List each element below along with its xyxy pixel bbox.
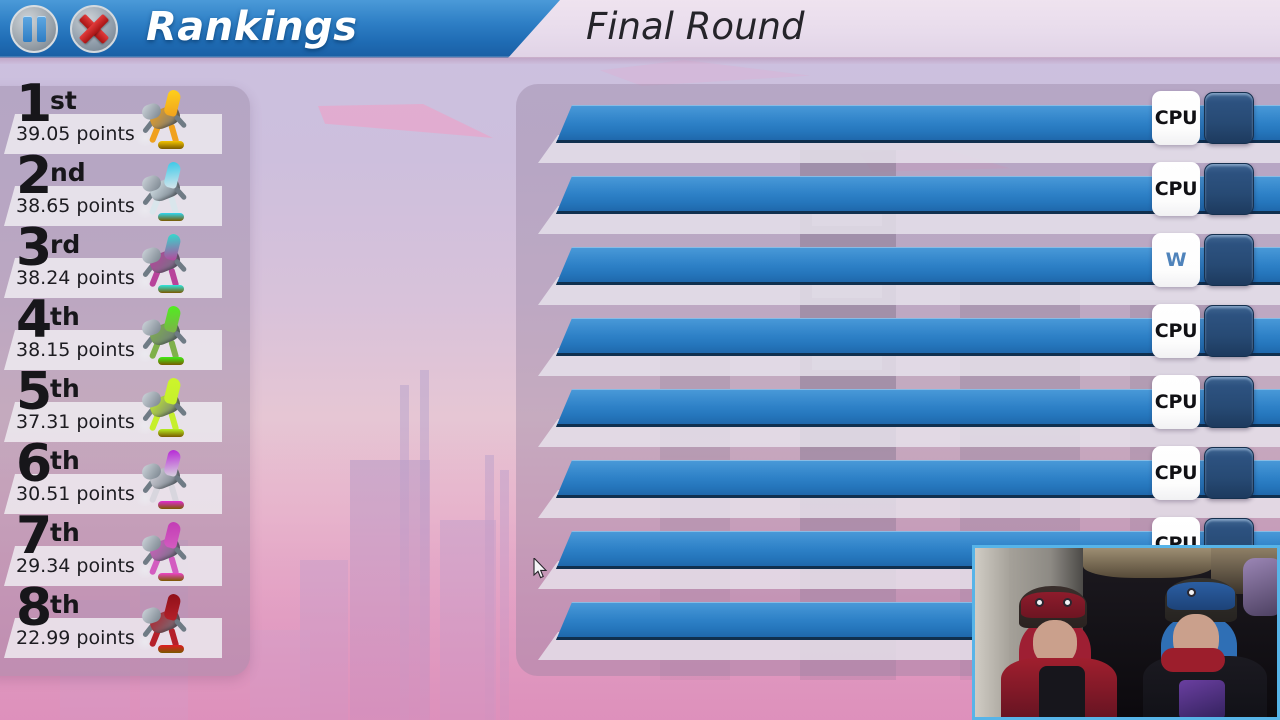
rank-points: 37.31 points <box>16 411 135 433</box>
player-marker-cube[interactable] <box>1204 234 1254 286</box>
rankings-panel: 1st39.05 points2nd38.65 points3rd38.24 p… <box>0 86 250 676</box>
character-sprite <box>136 590 206 658</box>
sprite-shoe <box>158 213 184 221</box>
player-bar-row[interactable]: CPU <box>516 97 1280 169</box>
rank-suffix: nd <box>50 160 86 185</box>
player-bar-row[interactable]: W <box>516 239 1280 311</box>
hat-eye-motif <box>1063 598 1072 607</box>
ranking-entry: 8th22.99 points <box>0 588 250 660</box>
sprite-shoe <box>158 573 184 581</box>
shirt-print <box>1039 666 1085 720</box>
hat-eye-motif <box>1035 598 1044 607</box>
player-marker-cube[interactable] <box>1204 163 1254 215</box>
player-bar-row[interactable]: CPU <box>516 381 1280 453</box>
player-bar-row[interactable]: CPU <box>516 452 1280 524</box>
player-bar-row[interactable]: CPU <box>516 168 1280 240</box>
webcam-purple-decor <box>1243 558 1280 616</box>
beanie-band <box>1167 582 1235 610</box>
sprite-shoe <box>158 285 184 293</box>
player-name-label: CPU <box>1155 107 1197 129</box>
player-marker-cube[interactable] <box>1204 447 1254 499</box>
rank-points: 38.15 points <box>16 339 135 361</box>
player-name-box[interactable]: CPU <box>1152 162 1200 216</box>
character-sprite <box>136 230 206 298</box>
rank-points: 30.51 points <box>16 483 135 505</box>
player-marker-cube[interactable] <box>1204 376 1254 428</box>
webcam-overlay[interactable] <box>972 545 1280 720</box>
hat-eye-motif <box>1187 588 1196 597</box>
player-marker-cube[interactable] <box>1204 305 1254 357</box>
player-name-label: CPU <box>1155 178 1197 200</box>
page-title: Rankings <box>146 0 358 57</box>
player-marker-cube[interactable] <box>1204 92 1254 144</box>
player-name-box[interactable]: CPU <box>1152 91 1200 145</box>
shirt-print <box>1179 680 1225 720</box>
player-name-label: CPU <box>1155 391 1197 413</box>
player-name-label: CPU <box>1155 462 1197 484</box>
rank-points: 38.24 points <box>16 267 135 289</box>
character-sprite <box>136 374 206 442</box>
rank-points: 29.34 points <box>16 555 135 577</box>
rank-suffix: th <box>50 376 80 401</box>
player-name-box[interactable]: CPU <box>1152 375 1200 429</box>
sprite-shoe <box>158 645 184 653</box>
player-name-box[interactable]: CPU <box>1152 304 1200 358</box>
mouse-cursor <box>533 558 548 579</box>
rank-points: 39.05 points <box>16 123 135 145</box>
rank-suffix: th <box>50 592 80 617</box>
rank-suffix: rd <box>50 232 80 257</box>
rank-suffix: th <box>50 304 80 329</box>
rank-suffix: th <box>50 448 80 473</box>
rank-points: 38.65 points <box>16 195 135 217</box>
pause-icon[interactable] <box>10 5 58 53</box>
sprite-shoe <box>158 429 184 437</box>
rank-points: 22.99 points <box>16 627 135 649</box>
player-name-label: CPU <box>1155 320 1197 342</box>
sprite-shoe <box>158 357 184 365</box>
header-bar: Rankings Final Round <box>0 0 1280 58</box>
close-icon[interactable] <box>70 5 118 53</box>
character-sprite <box>136 86 206 154</box>
character-sprite <box>136 446 206 514</box>
player-name-box[interactable]: CPU <box>1152 446 1200 500</box>
player-name-box[interactable]: W <box>1152 233 1200 287</box>
character-sprite <box>136 158 206 226</box>
collar <box>1161 648 1225 672</box>
webcam-fur-decor <box>1083 548 1213 578</box>
sprite-shoe <box>158 141 184 149</box>
player-bar-row[interactable]: CPU <box>516 310 1280 382</box>
sprite-shoe <box>158 501 184 509</box>
rank-suffix: st <box>50 88 77 113</box>
beanie-band <box>1021 592 1085 618</box>
character-sprite <box>136 518 206 586</box>
player-name-label: W <box>1166 249 1187 271</box>
round-title: Final Round <box>586 0 804 56</box>
rank-suffix: th <box>50 520 80 545</box>
game-screen: 1st39.05 points2nd38.65 points3rd38.24 p… <box>0 0 1280 720</box>
character-sprite <box>136 302 206 370</box>
